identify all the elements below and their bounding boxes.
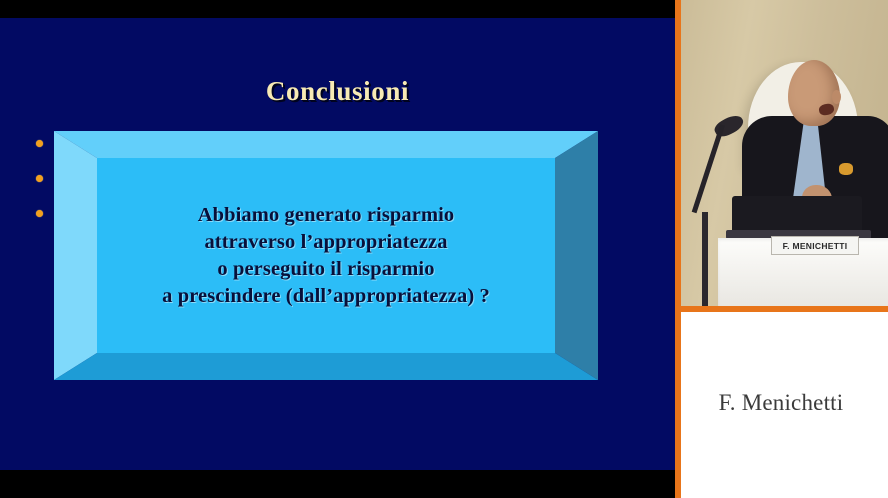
- slide-title: Conclusioni: [0, 76, 675, 107]
- panel-divider: [680, 306, 888, 312]
- lapel-pin-icon: [839, 163, 853, 175]
- slide-bullet-1: [36, 140, 43, 147]
- nameplate-label: F. MENICHETTI: [783, 241, 848, 251]
- screen-root: Conclusioni Abbiamo generato risparmio a…: [0, 0, 888, 498]
- speaker-ear: [832, 90, 841, 104]
- content-line-2: attraverso l’appropriatezza: [204, 229, 447, 256]
- letterbox-top: [0, 0, 675, 18]
- presentation-slide: Conclusioni Abbiamo generato risparmio a…: [0, 18, 675, 470]
- microphone-stand: [702, 212, 708, 306]
- panel-accent-border: [675, 0, 681, 498]
- letterbox-bottom: [0, 470, 675, 498]
- slide-bullet-2: [36, 175, 43, 182]
- beveled-content-box: Abbiamo generato risparmio attraverso l’…: [54, 131, 598, 380]
- box-inner-face: Abbiamo generato risparmio attraverso l’…: [97, 158, 555, 353]
- content-line-3: o perseguito il risparmio: [217, 256, 434, 283]
- speaker-panel: F. MENICHETTI F. Menichetti: [675, 0, 888, 498]
- content-line-4: a prescindere (dall’appropriatezza) ?: [162, 283, 490, 310]
- content-line-1: Abbiamo generato risparmio: [198, 202, 455, 229]
- speaker-video-tile[interactable]: F. MENICHETTI: [680, 0, 888, 306]
- slide-bullet-3: [36, 210, 43, 217]
- slide-video-panel[interactable]: Conclusioni Abbiamo generato risparmio a…: [0, 0, 675, 498]
- speaker-name-label: F. Menichetti: [681, 390, 881, 416]
- nameplate: F. MENICHETTI: [771, 236, 859, 255]
- speaker-caption-area: F. Menichetti: [681, 312, 888, 498]
